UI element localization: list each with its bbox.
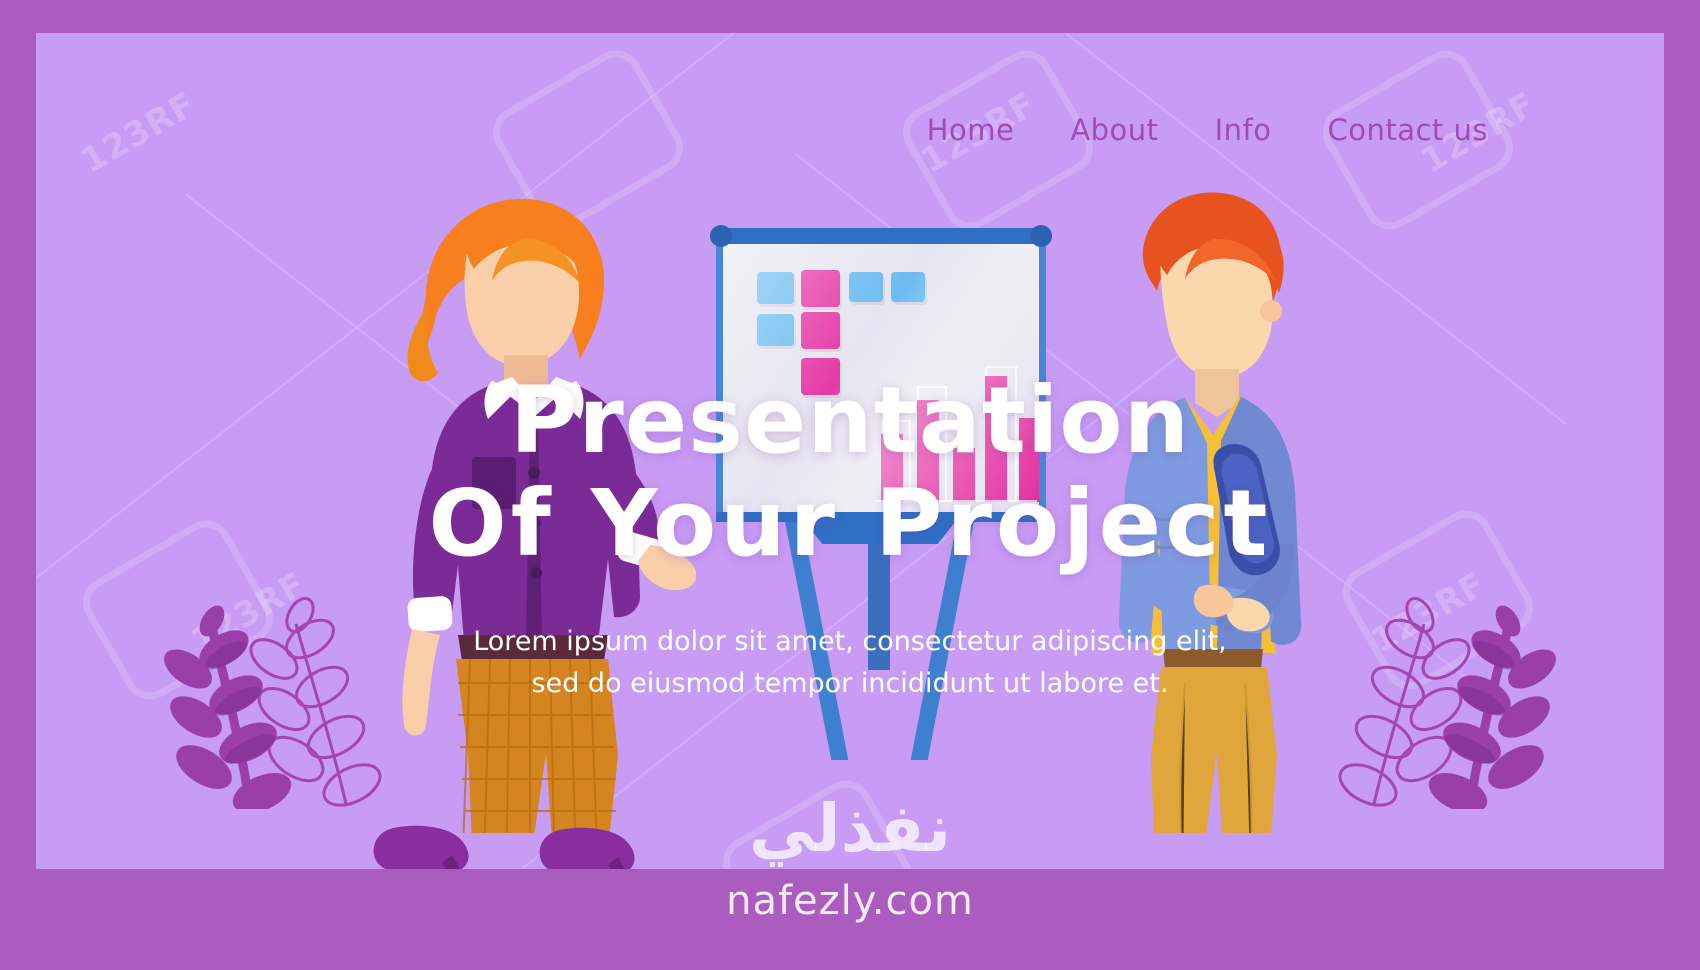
headline-line-2: Of Your Project	[36, 472, 1664, 575]
nav-item-about[interactable]: About	[1070, 113, 1158, 147]
watermark-text: 123RF	[74, 84, 203, 181]
nav-item-contact-us[interactable]: Contact us	[1327, 113, 1488, 147]
paragraph-line-1: Lorem ipsum dolor sit amet, consectetur …	[36, 621, 1664, 663]
brand-watermark-url: nafezly.com	[0, 878, 1700, 924]
hero-paragraph: Lorem ipsum dolor sit amet, consectetur …	[36, 621, 1664, 705]
board-top-rail	[710, 228, 1052, 244]
nav-item-info[interactable]: Info	[1215, 113, 1272, 147]
brand-watermark-arabic: نفذلي	[0, 790, 1700, 867]
main-navigation: Home About Info Contact us	[927, 113, 1488, 147]
hero-card: 123RF 123RF 123RF 123RF 123RF 123RF	[36, 33, 1664, 869]
page-root: 123RF 123RF 123RF 123RF 123RF 123RF	[0, 0, 1700, 970]
nav-item-home[interactable]: Home	[927, 113, 1015, 147]
hero-headline: Presentation Of Your Project	[36, 369, 1664, 575]
headline-line-1: Presentation	[510, 367, 1190, 474]
paragraph-line-2: sed do eiusmod tempor incididunt ut labo…	[36, 663, 1664, 705]
